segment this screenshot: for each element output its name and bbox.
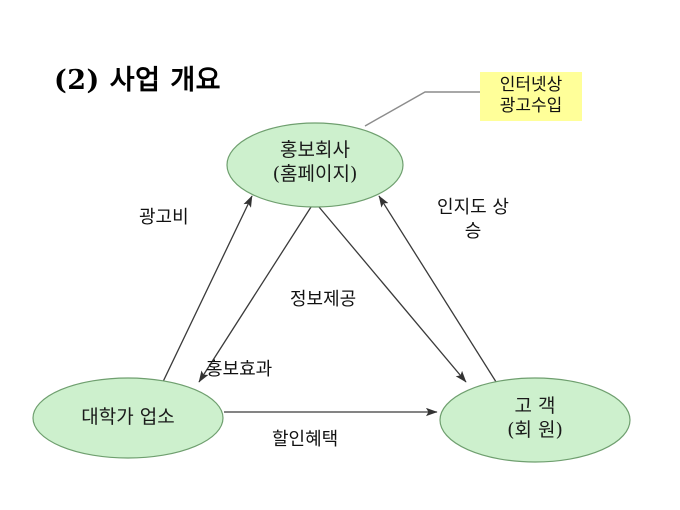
edge-label-info-provide: 정보제공 [290, 288, 356, 312]
callout-connector-line [365, 92, 481, 126]
promo-company-ellipse[interactable] [227, 123, 403, 207]
page-title: (2) 사업 개요 [54, 58, 221, 97]
edge-label-awareness-rise-line1: 인지도 상 [418, 196, 528, 220]
customers-ellipse[interactable] [440, 378, 630, 462]
edge-label-discount-benefit: 할인혜택 [272, 428, 338, 452]
edge-label-awareness-rise: 인지도 상 승 [418, 196, 528, 244]
callout-line-1: 인터넷상 [482, 75, 580, 96]
slide-canvas: (2) 사업 개요 홍보회사 (홈페이지) 대학가 업소 고 객 (회 원) 광… [0, 0, 680, 510]
edge-label-ad-fee: 광고비 [139, 206, 189, 230]
edge-label-promo-effect: 홍보효과 [206, 358, 272, 382]
edge-label-awareness-rise-line2: 승 [418, 220, 528, 244]
campus-shops-ellipse[interactable] [33, 378, 223, 458]
internet-ad-revenue-callout[interactable]: 인터넷상 광고수입 [480, 72, 582, 121]
callout-line-2: 광고수입 [482, 96, 580, 117]
